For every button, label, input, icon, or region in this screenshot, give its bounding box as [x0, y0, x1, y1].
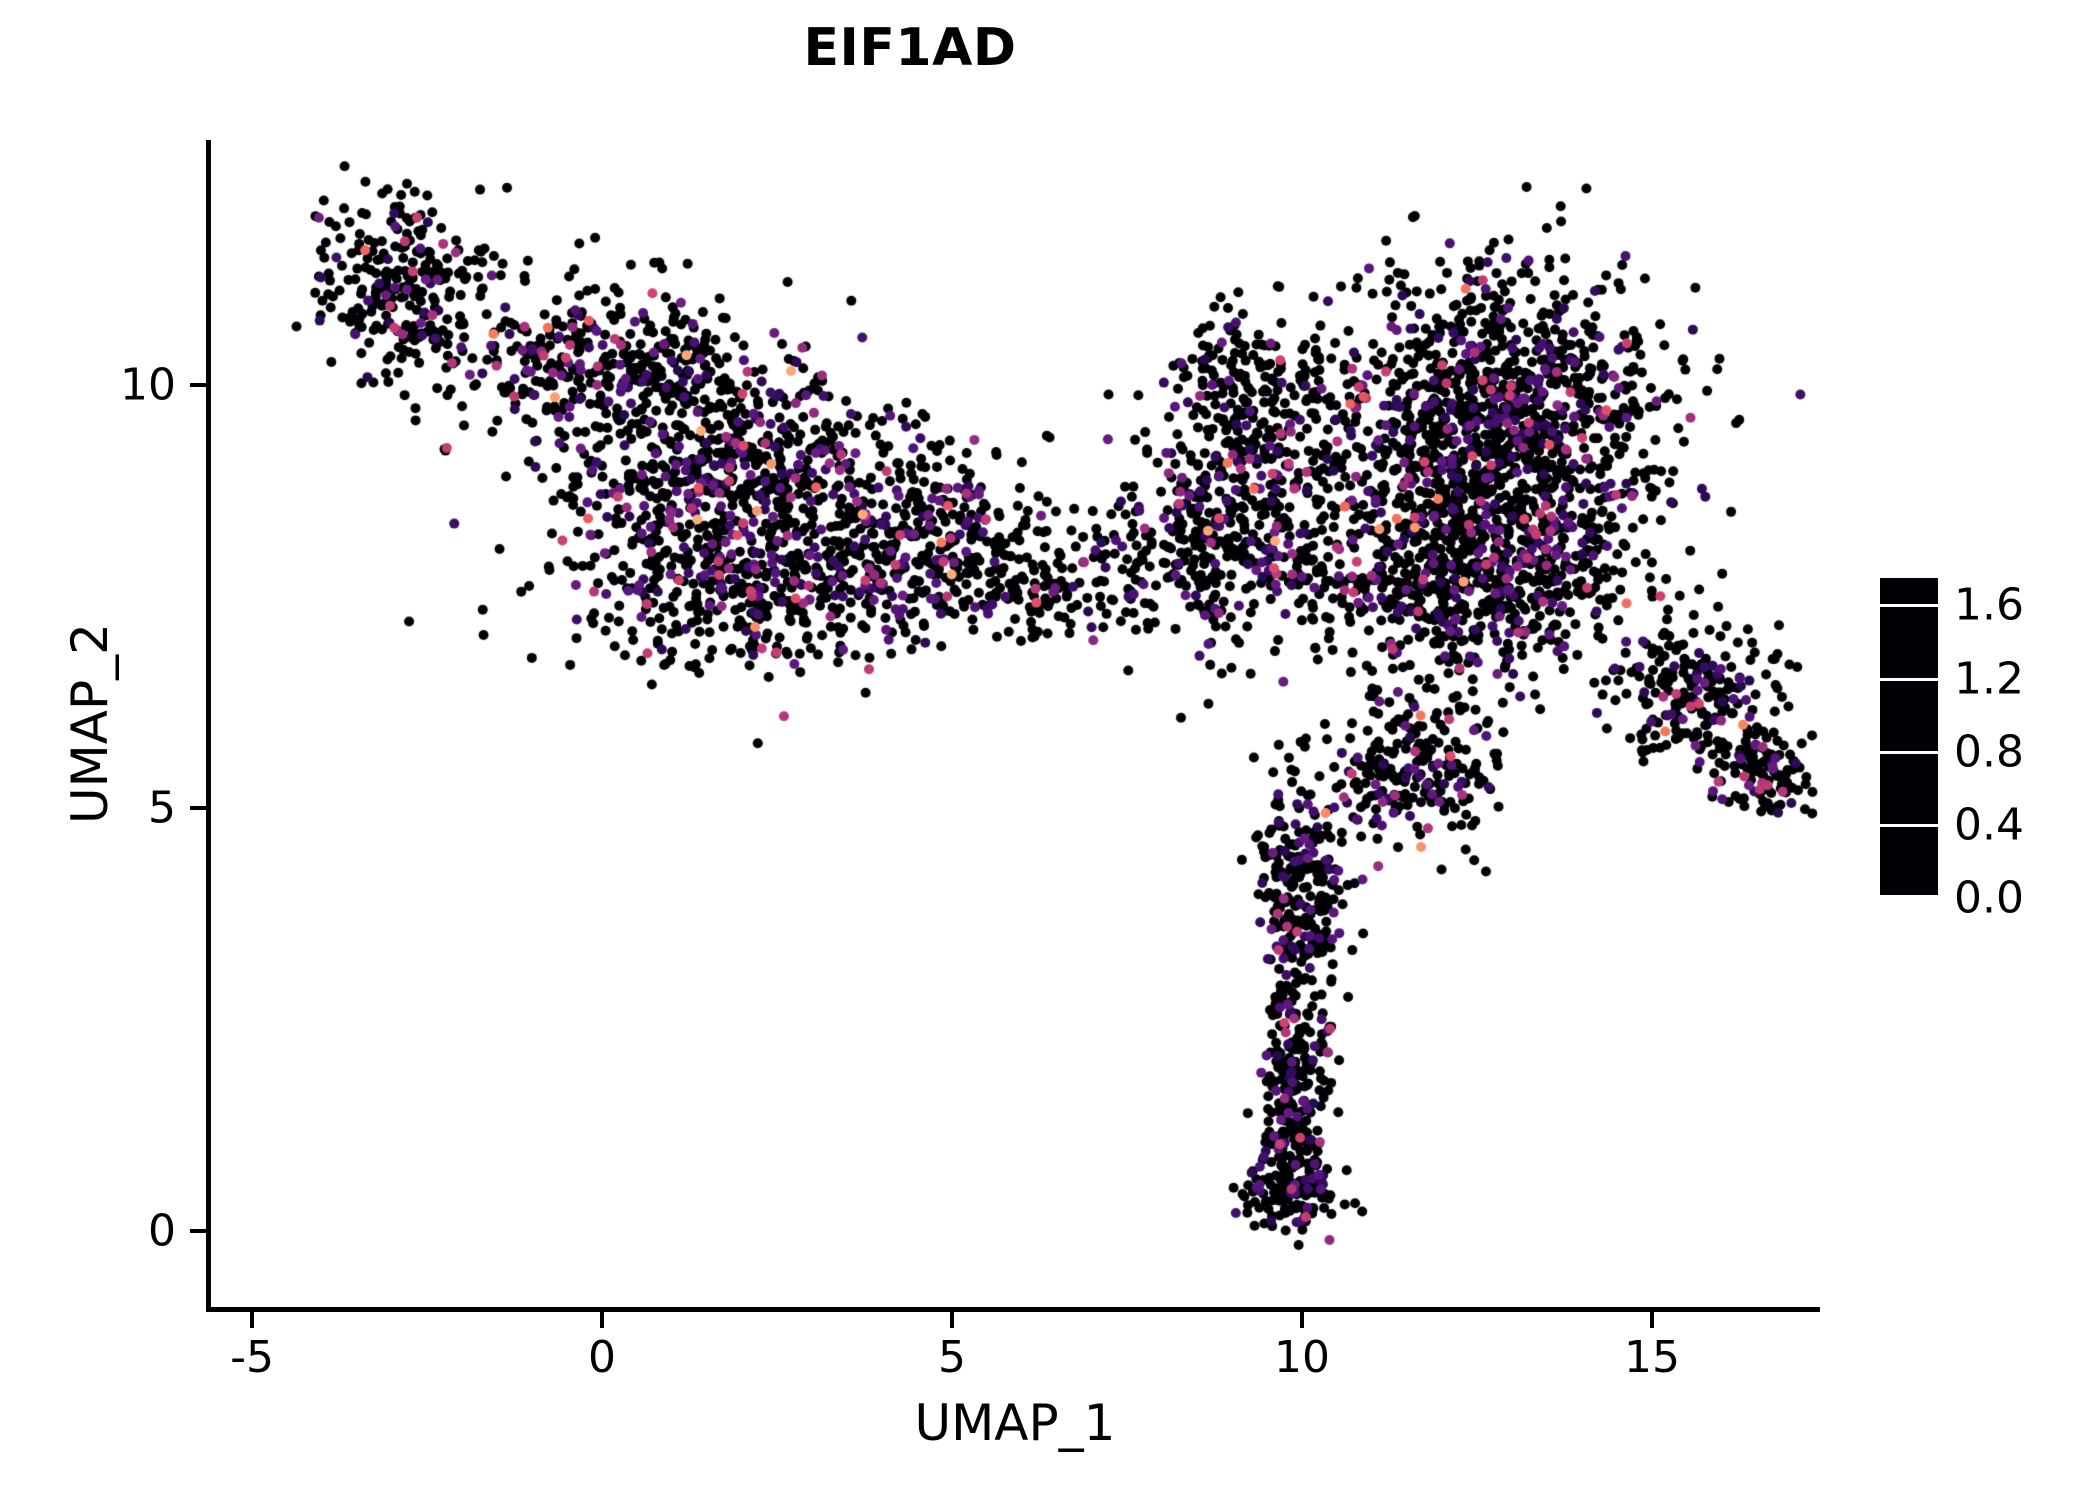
colorbar-tick-mark [1880, 751, 1938, 754]
x-tick-mark [1300, 1312, 1304, 1328]
colorbar-gradient [1880, 578, 1938, 898]
colorbar-tick-label: 1.6 [1954, 580, 2024, 631]
x-tick-label: 5 [938, 1332, 966, 1383]
x-axis-spine [206, 1307, 1820, 1312]
page-title: EIF1AD [0, 22, 1820, 74]
colorbar-tick-label: 0.0 [1954, 873, 2024, 924]
colorbar-tick-mark [1880, 604, 1938, 607]
y-tick-mark [190, 383, 206, 387]
y-tick-label: 5 [148, 783, 176, 834]
y-axis-label: UMAP_2 [60, 140, 120, 1307]
umap-feature-plot: EIF1AD -5051015 0510 UMAP_1 UMAP_2 0.00.… [0, 0, 2100, 1500]
colorbar-tick-label: 0.8 [1954, 726, 2024, 777]
x-tick-label: 0 [588, 1332, 616, 1383]
plot-axes: -5051015 0510 [210, 140, 1820, 1307]
colorbar-tick-mark [1880, 678, 1938, 681]
x-tick-label: -5 [230, 1332, 274, 1383]
colorbar-tick-label: 1.2 [1954, 653, 2024, 704]
x-tick-mark [250, 1312, 254, 1328]
scatter-plot-canvas [210, 140, 1820, 1307]
x-tick-label: 15 [1624, 1332, 1680, 1383]
y-tick-label: 10 [120, 360, 176, 411]
colorbar-tick-label: 0.4 [1954, 799, 2024, 850]
colorbar-tick-mark [1880, 824, 1938, 827]
colorbar-tick-mark [1880, 895, 1938, 898]
x-axis-label: UMAP_1 [210, 1398, 1820, 1448]
y-tick-mark [190, 1229, 206, 1233]
colorbar: 0.00.40.81.21.6 [1880, 578, 2080, 898]
y-axis-spine [206, 140, 211, 1307]
x-tick-mark [1650, 1312, 1654, 1328]
x-tick-mark [600, 1312, 604, 1328]
x-tick-label: 10 [1274, 1332, 1330, 1383]
y-tick-mark [190, 806, 206, 810]
x-tick-mark [950, 1312, 954, 1328]
y-tick-label: 0 [148, 1205, 176, 1256]
